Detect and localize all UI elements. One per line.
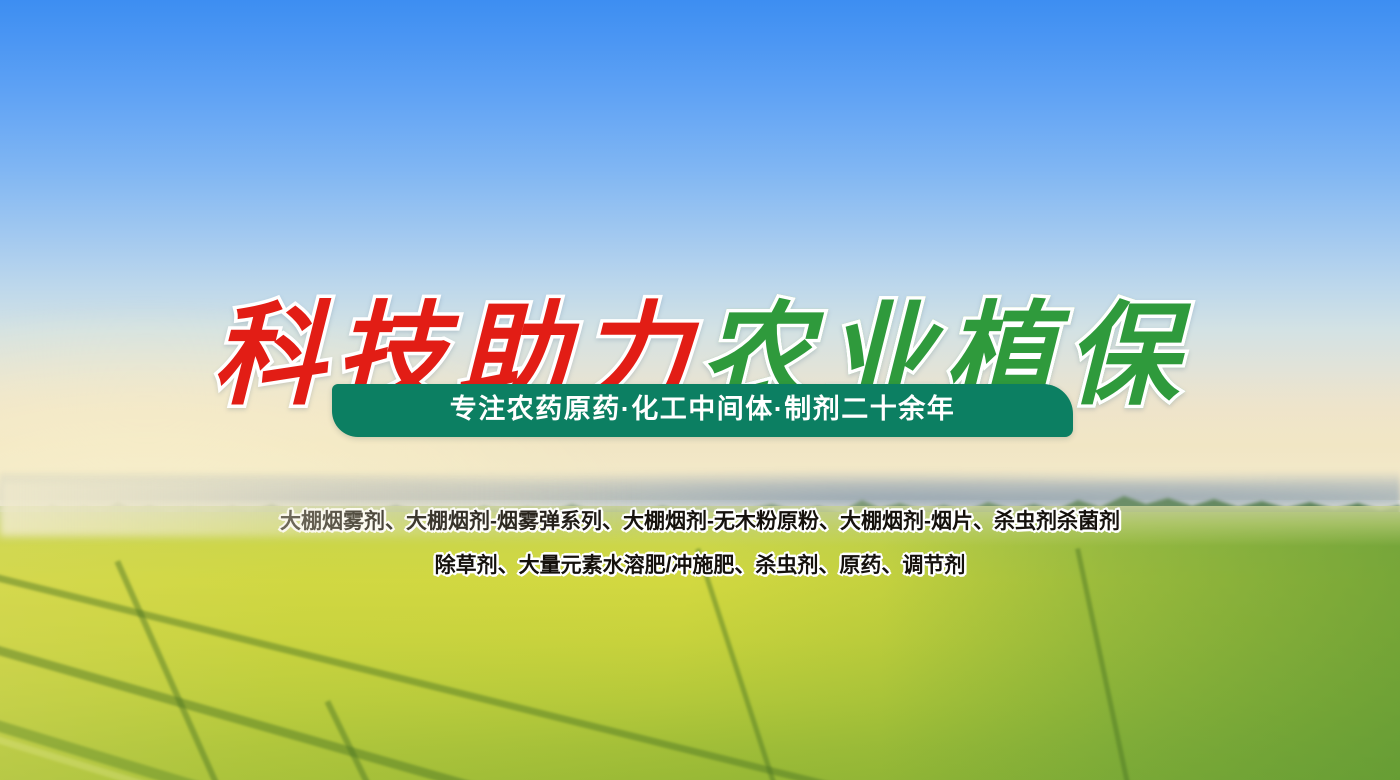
treeline-left-haze <box>0 480 1400 536</box>
hero-banner: 科技助力农业植保 专注农药原药·化工中间体·制剂二十余年 大棚烟雾剂、大棚烟剂-… <box>0 0 1400 780</box>
subtitle-badge: 专注农药原药·化工中间体·制剂二十余年 <box>332 384 1073 437</box>
subtitle-badge-label: 专注农药原药·化工中间体·制剂二十余年 <box>450 396 955 425</box>
product-line: 除草剂、大量元素水溶肥/冲施肥、杀虫剂、原药、调节剂 <box>0 544 1400 588</box>
